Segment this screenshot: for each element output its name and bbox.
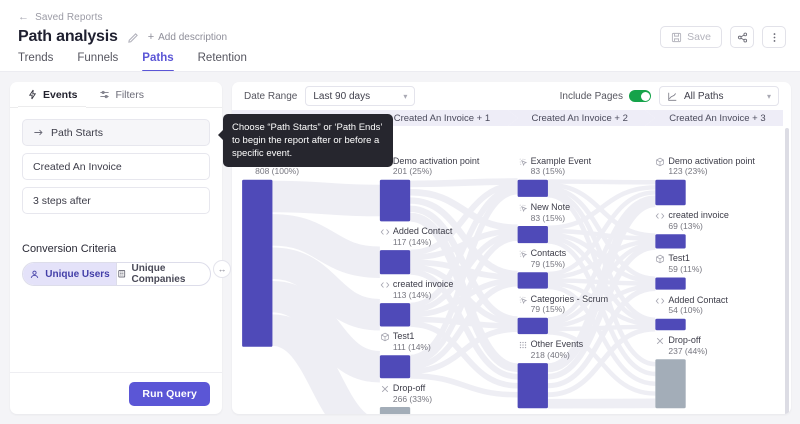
save-button[interactable]: Save	[660, 26, 722, 48]
vertical-scrollbar[interactable]	[785, 128, 789, 414]
sankey-node	[380, 355, 410, 378]
sankey-node-label[interactable]: Categories - Scrum79 (15%)	[518, 294, 609, 315]
sankey-node	[655, 319, 685, 331]
sankey-node	[518, 363, 548, 408]
sankey-node-label[interactable]: Other Events218 (40%)	[518, 339, 584, 360]
breadcrumb[interactable]: ← Saved Reports	[18, 12, 103, 23]
sidebar-tab-filters[interactable]: Filters	[90, 82, 153, 107]
sankey-node	[518, 272, 548, 288]
save-label: Save	[687, 31, 711, 43]
page-title: Path analysis	[18, 28, 118, 46]
header-actions: Save	[660, 26, 786, 48]
sidebar-footer: Run Query	[10, 372, 222, 414]
sankey-node-label[interactable]: Demo activation point201 (25%)	[380, 156, 480, 177]
sankey-node	[380, 250, 410, 274]
building-icon	[117, 269, 127, 280]
date-range-select[interactable]: Last 90 days ▾	[305, 86, 415, 106]
tab-paths[interactable]: Paths	[142, 52, 173, 72]
segment-unique-companies[interactable]: Unique Companies	[116, 263, 210, 285]
chevron-down-icon: ▾	[767, 92, 771, 101]
sidebar-tabs: Events Filters	[10, 82, 222, 108]
lightning-icon	[27, 89, 38, 100]
sankey-diagram: Created An Invoice808 (100%)Demo activat…	[232, 126, 783, 414]
save-disk-icon	[671, 32, 682, 43]
tab-retention[interactable]: Retention	[198, 52, 247, 72]
arrow-right-icon	[33, 127, 44, 138]
sankey-node	[518, 318, 548, 334]
sankey-node-label[interactable]: Test159 (11%)	[655, 253, 702, 274]
sankey-node-label[interactable]: Drop-off266 (33%)	[380, 383, 432, 404]
sankey-node-label[interactable]: New Note83 (15%)	[518, 202, 571, 223]
field-steps[interactable]: 3 steps after	[22, 187, 210, 214]
sankey-node	[380, 180, 410, 222]
plus-icon: +	[148, 32, 154, 43]
path-starts-tooltip: Choose “Path Starts” or ‘Path Ends’ to b…	[223, 114, 393, 167]
segment-unique-users-label: Unique Users	[45, 269, 109, 280]
sankey-node-label[interactable]: Added Contact54 (10%)	[655, 295, 728, 316]
add-description-button[interactable]: + Add description	[148, 32, 227, 43]
sankey-node	[518, 180, 548, 197]
field-path-starts-label: Path Starts	[51, 127, 103, 139]
include-pages-toggle[interactable]	[629, 90, 651, 102]
query-sidebar: Events Filters Path Starts Crea	[10, 82, 222, 414]
sankey-link	[548, 181, 655, 182]
path-chart-icon	[667, 91, 678, 102]
toggle-knob	[641, 92, 650, 101]
tab-trends[interactable]: Trends	[18, 52, 53, 72]
sankey-link	[272, 196, 379, 200]
sankey-node	[655, 180, 685, 205]
sankey-node-label[interactable]: Drop-off237 (44%)	[655, 335, 707, 356]
segment-unique-companies-label: Unique Companies	[132, 263, 210, 285]
share-icon	[737, 32, 748, 43]
more-vertical-icon	[769, 32, 780, 43]
column-header-2: Created An Invoice + 2	[508, 110, 646, 126]
field-path-starts[interactable]: Path Starts	[22, 119, 210, 146]
sankey-node	[242, 180, 272, 347]
segment-unique-users[interactable]: Unique Users	[23, 263, 116, 285]
field-event-name[interactable]: Created An Invoice	[22, 153, 210, 180]
share-button[interactable]	[730, 26, 754, 48]
sankey-node-label[interactable]: created invoice113 (14%)	[380, 279, 454, 300]
add-description-label: Add description	[158, 32, 227, 43]
sankey-link	[548, 327, 655, 329]
paths-filter-select[interactable]: All Paths ▾	[659, 86, 779, 106]
sankey-node	[380, 407, 410, 414]
user-icon	[29, 269, 40, 280]
report-tabs: Trends Funnels Paths Retention	[18, 52, 247, 72]
sidebar-body: Path Starts Created An Invoice 3 steps a…	[10, 108, 222, 372]
sankey-node-label[interactable]: Test1111 (14%)	[380, 331, 431, 352]
conversion-criteria-label: Conversion Criteria	[22, 243, 210, 255]
include-pages-label: Include Pages	[560, 91, 623, 102]
conversion-criteria-segmented: Unique Users Unique Companies	[22, 262, 211, 286]
date-range-label: Date Range	[244, 91, 297, 102]
sankey-node	[518, 226, 548, 243]
field-event-name-label: Created An Invoice	[33, 161, 122, 173]
top-bar: ← Saved Reports Path analysis + Add desc…	[0, 0, 800, 72]
filter-sliders-icon	[99, 89, 110, 100]
date-range-value: Last 90 days	[313, 91, 370, 102]
sidebar-tab-events-label: Events	[43, 89, 77, 101]
sankey-node	[655, 234, 685, 248]
path-analysis-app: ← Saved Reports Path analysis + Add desc…	[0, 0, 800, 424]
sankey-node-label[interactable]: Contacts79 (15%)	[518, 248, 567, 269]
paths-filter-value: All Paths	[684, 91, 723, 102]
tab-funnels[interactable]: Funnels	[77, 52, 118, 72]
sankey-node	[655, 359, 685, 408]
sankey-node	[380, 303, 410, 326]
run-query-button[interactable]: Run Query	[129, 382, 210, 406]
include-pages-toggle-group[interactable]: Include Pages	[560, 90, 651, 102]
breadcrumb-label: Saved Reports	[35, 12, 102, 23]
sankey-node	[655, 277, 685, 289]
sankey-node-label[interactable]: created invoice69 (13%)	[655, 210, 729, 231]
more-options-button[interactable]	[762, 26, 786, 48]
field-steps-label: 3 steps after	[33, 195, 91, 207]
resize-horizontal-icon[interactable]: ↔	[213, 260, 231, 278]
chart-toolbar: Date Range Last 90 days ▾ Include Pages …	[232, 82, 791, 110]
title-row: Path analysis + Add description	[18, 28, 227, 46]
sankey-node-label[interactable]: Example Event83 (15%)	[518, 156, 592, 177]
sankey-link	[410, 181, 517, 183]
sidebar-tab-filters-label: Filters	[115, 89, 144, 101]
sidebar-tab-events[interactable]: Events	[18, 82, 86, 107]
main-area: Events Filters Path Starts Crea	[0, 72, 800, 424]
chevron-down-icon: ▾	[403, 92, 407, 101]
arrow-left-icon: ←	[18, 12, 29, 23]
pencil-icon[interactable]	[127, 31, 139, 43]
sankey-node-label[interactable]: Demo activation point123 (23%)	[655, 156, 755, 177]
column-header-3: Created An Invoice + 3	[645, 110, 783, 126]
sankey-node-label[interactable]: Added Contact117 (14%)	[380, 226, 453, 247]
